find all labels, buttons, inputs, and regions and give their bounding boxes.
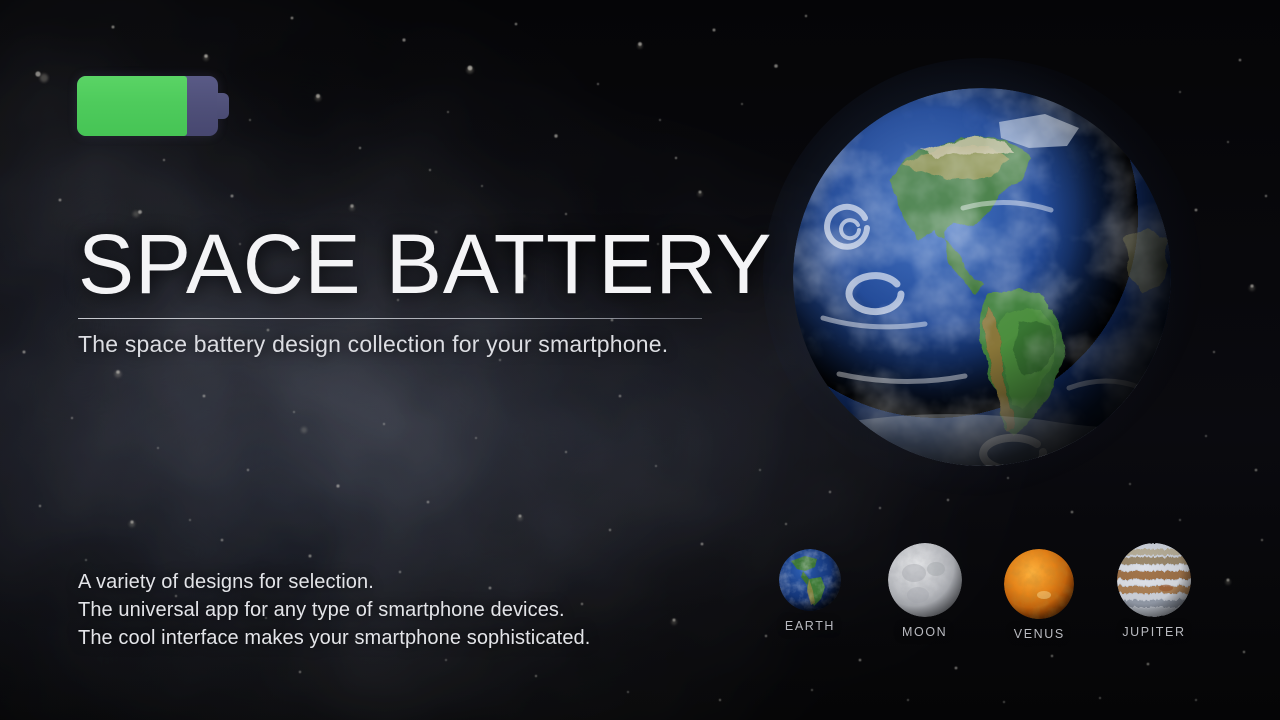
- feature-line-3: The cool interface makes your smartphone…: [78, 624, 590, 652]
- title-divider: [78, 318, 702, 319]
- planet-label-moon: MOON: [902, 625, 947, 639]
- feature-list: A variety of designs for selection. The …: [78, 568, 590, 652]
- planet-label-jupiter: JUPITER: [1122, 625, 1185, 639]
- planet-item-earth[interactable]: EARTH: [762, 543, 858, 641]
- venus-icon: [1004, 549, 1074, 619]
- planet-item-moon[interactable]: MOON: [877, 543, 973, 641]
- planet-item-jupiter[interactable]: JUPITER: [1106, 543, 1202, 641]
- jupiter-icon: [1117, 543, 1191, 617]
- battery-icon: [77, 76, 229, 136]
- planet-label-venus: VENUS: [1014, 627, 1065, 641]
- moon-icon: [888, 543, 962, 617]
- space-battery-poster: SPACE BATTERY The space battery design c…: [0, 0, 1280, 720]
- planet-thumbnail-row: EARTH: [762, 543, 1202, 641]
- feature-line-1: A variety of designs for selection.: [78, 568, 590, 596]
- hero-block: SPACE BATTERY The space battery design c…: [78, 218, 778, 359]
- planet-label-earth: EARTH: [785, 619, 835, 633]
- earth-globe: [793, 88, 1171, 466]
- feature-line-2: The universal app for any type of smartp…: [78, 596, 590, 624]
- page-subtitle: The space battery design collection for …: [78, 330, 778, 359]
- earth-icon: [779, 549, 841, 611]
- battery-cap: [217, 93, 229, 119]
- page-title: SPACE BATTERY: [78, 218, 778, 310]
- planet-item-venus[interactable]: VENUS: [991, 543, 1087, 641]
- battery-fill-level: [77, 76, 187, 136]
